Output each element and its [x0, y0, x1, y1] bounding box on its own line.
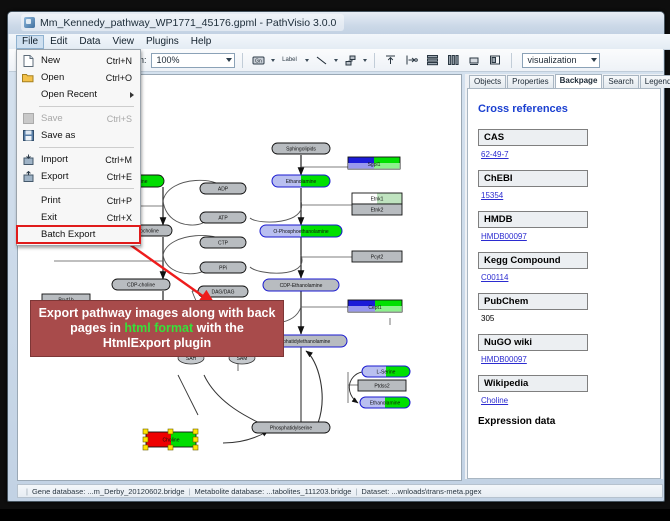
title-bar: Mm_Kennedy_pathway_WP1771_45176.gpml - P…	[8, 12, 664, 34]
status-gene-database: Gene database: ...m_Derby_20120602.bridg…	[32, 487, 185, 496]
line-dropdown-icon[interactable]	[334, 59, 338, 62]
interaction-icon[interactable]	[342, 52, 359, 69]
db-label-pubchem: PubChem	[478, 293, 588, 310]
menu-file[interactable]: File	[16, 35, 44, 49]
zoom-combo[interactable]: 100%	[151, 53, 235, 68]
db-label-kegg-compound: Kegg Compound	[478, 252, 588, 269]
right-panel: Objects Properties Backpage Search Legen…	[465, 74, 663, 479]
svg-text:Pcyt2: Pcyt2	[371, 255, 384, 261]
menu-label-open: Open	[41, 72, 106, 83]
svg-text:Etnk1: Etnk1	[371, 197, 384, 203]
node-phosphatidylserine: Phosphatidylserine	[252, 422, 330, 433]
db-value-hmdb[interactable]: HMDB00097	[481, 232, 650, 241]
menu-view[interactable]: View	[106, 35, 140, 49]
svg-text:Gn: Gn	[255, 58, 262, 64]
menu-item-open-recent[interactable]: Open Recent	[17, 86, 140, 103]
node-ethanolamine-2: Ethanolamine	[360, 397, 410, 408]
gene-box-sgpl1: Sgpl1	[348, 157, 400, 169]
menu-label-open-recent: Open Recent	[41, 89, 140, 100]
node-o-phosphoethanolamine: O-Phosphoethanolamine	[260, 225, 342, 237]
node-ctp: CTP	[200, 237, 246, 248]
db-label-cas: CAS	[478, 129, 588, 146]
cross-references-title: Cross references	[478, 103, 650, 115]
datanode-icon[interactable]: Gn	[250, 52, 267, 69]
label-icon[interactable]: Label	[279, 52, 301, 69]
blank-icon-3	[21, 212, 35, 224]
annotation-line2-b: with the	[193, 321, 244, 335]
node-cdp-choline: CDP-choline	[112, 279, 170, 290]
menu-item-save[interactable]: Save Ctrl+S	[17, 110, 140, 127]
tab-backpage[interactable]: Backpage	[555, 74, 603, 88]
menu-label-save: Save	[41, 113, 107, 124]
status-sep-1: |	[189, 487, 191, 496]
label-dropdown-icon[interactable]	[305, 59, 309, 62]
node-cdp-ethanolamine: CDP-Ethanolamine	[263, 279, 339, 291]
menu-label-exit: Exit	[41, 212, 107, 223]
menu-separator-2	[39, 147, 134, 148]
db-value-cas[interactable]: 62-49-7	[481, 150, 650, 159]
annotation-text: Export pathway images along with back pa…	[33, 306, 282, 351]
db-value-nugo-wiki[interactable]: HMDB00097	[481, 355, 650, 364]
status-bar: | Gene database: ...m_Derby_20120602.bri…	[17, 484, 663, 498]
menu-item-print[interactable]: Print Ctrl+P	[17, 192, 140, 209]
window-title: Mm_Kennedy_pathway_WP1771_45176.gpml - P…	[40, 17, 336, 29]
node-ethanolamine: Ethanolamine	[272, 175, 330, 187]
node-sphingolipids: Sphingolipids	[272, 143, 330, 154]
tab-legend[interactable]: Legend	[640, 75, 670, 88]
menu-separator-1	[39, 106, 134, 107]
interaction-dropdown-icon[interactable]	[363, 59, 367, 62]
menu-label-import: Import	[41, 154, 105, 165]
annotation-line3: HtmlExport plugin	[103, 336, 211, 350]
save-as-icon	[21, 130, 35, 142]
svg-text:ADP: ADP	[218, 187, 229, 193]
order-back-icon[interactable]	[466, 52, 483, 69]
app-icon	[24, 17, 35, 28]
chevron-down-icon	[226, 58, 232, 62]
toolbar-separator-3	[511, 53, 512, 68]
toolbar-separator	[242, 53, 243, 68]
menu-item-export[interactable]: Export Ctrl+E	[17, 168, 140, 185]
node-choline-selected: Choline	[143, 429, 198, 450]
expression-data-title: Expression data	[478, 416, 650, 427]
status-sep-0: |	[26, 487, 28, 496]
svg-text:Ethanolamine: Ethanolamine	[370, 401, 401, 407]
menu-edit[interactable]: Edit	[44, 35, 73, 49]
svg-text:Sphingolipids: Sphingolipids	[286, 147, 316, 153]
gene-box-ptdss2: Ptdss2	[358, 380, 406, 391]
blank-icon	[21, 89, 35, 101]
panel-tabs[interactable]: Objects Properties Backpage Search Legen…	[465, 74, 663, 88]
menu-shortcut-exit: Ctrl+X	[107, 213, 140, 223]
svg-text:CTP: CTP	[218, 241, 229, 247]
svg-text:PPi: PPi	[219, 266, 227, 272]
svg-text:CDP-Ethanolamine: CDP-Ethanolamine	[280, 283, 323, 289]
menu-shortcut-save: Ctrl+S	[107, 114, 140, 124]
svg-text:Ptdss2: Ptdss2	[374, 384, 390, 390]
node-atp: ATP	[200, 212, 246, 223]
menu-item-batch-export[interactable]: Batch Export	[17, 226, 140, 243]
distribute-vertical-icon[interactable]	[424, 52, 441, 69]
db-label-wikipedia: Wikipedia	[478, 375, 588, 392]
menu-help[interactable]: Help	[185, 35, 218, 49]
svg-text:O-Phosphoethanolamine: O-Phosphoethanolamine	[273, 229, 329, 235]
node-ppi: PPi	[200, 262, 246, 273]
svg-text:ATP: ATP	[218, 216, 228, 222]
menu-plugins[interactable]: Plugins	[140, 35, 185, 49]
db-value-pubchem: 305	[481, 314, 650, 323]
svg-text:CDP-choline: CDP-choline	[127, 283, 155, 289]
menu-item-new[interactable]: New Ctrl+N	[17, 52, 140, 69]
tab-objects[interactable]: Objects	[469, 75, 506, 88]
visualization-combo[interactable]: visualization	[522, 53, 600, 68]
menu-item-import[interactable]: Import Ctrl+M	[17, 151, 140, 168]
svg-text:Etnk2: Etnk2	[371, 208, 384, 214]
menu-data[interactable]: Data	[73, 35, 106, 49]
open-folder-icon	[21, 72, 35, 84]
db-label-nugo-wiki: NuGO wiki	[478, 334, 588, 351]
menu-label-new: New	[41, 55, 106, 66]
db-value-chebi[interactable]: 15354	[481, 191, 650, 200]
blank-icon-2	[21, 195, 35, 207]
menu-item-save-as[interactable]: Save as	[17, 127, 140, 144]
db-label-chebi: ChEBI	[478, 170, 588, 187]
backpage-content[interactable]: Cross references CAS 62-49-7 ChEBI 15354…	[467, 88, 661, 479]
menu-shortcut-print: Ctrl+P	[107, 196, 140, 206]
window-title-chip: Mm_Kennedy_pathway_WP1771_45176.gpml - P…	[21, 14, 344, 31]
gene-box-etnk1: Etnk1	[352, 193, 402, 204]
distribute-horizontal-icon[interactable]	[445, 52, 462, 69]
menu-label-batch-export: Batch Export	[41, 229, 140, 240]
tab-search[interactable]: Search	[603, 75, 638, 88]
submenu-arrow-icon	[130, 92, 134, 98]
annotation-line2-a: pages in	[70, 321, 124, 335]
annotation-highlight: html format	[124, 321, 193, 335]
screenshot-root: Mm_Kennedy_pathway_WP1771_45176.gpml - P…	[0, 0, 670, 509]
align-top-icon[interactable]	[382, 52, 399, 69]
svg-text:Ethanolamine: Ethanolamine	[286, 179, 317, 185]
gene-box-pcyt2: Pcyt2	[352, 251, 402, 262]
annotation-line1: Export pathway images along with back	[39, 306, 276, 320]
menu-shortcut-new: Ctrl+N	[106, 56, 140, 66]
db-label-hmdb: HMDB	[478, 211, 588, 228]
datanode-dropdown-icon[interactable]	[271, 59, 275, 62]
status-sep-2: |	[355, 487, 357, 496]
node-adp: ADP	[200, 183, 246, 194]
menu-item-open[interactable]: Open Ctrl+O	[17, 69, 140, 86]
menu-shortcut-export: Ctrl+E	[107, 172, 140, 182]
node-dag-dag: DAG/DAG	[198, 286, 248, 297]
gene-box-etnk2: Etnk2	[352, 204, 402, 215]
export-icon	[21, 171, 35, 183]
status-dataset: Dataset: ...wnloads\trans-meta.pgex	[361, 487, 481, 496]
application-window: Mm_Kennedy_pathway_WP1771_45176.gpml - P…	[7, 11, 665, 502]
menu-item-exit[interactable]: Exit Ctrl+X	[17, 209, 140, 226]
file-menu-dropdown[interactable]: New Ctrl+N Open Ctrl+O Open Recent	[16, 49, 141, 246]
visualization-value: visualization	[528, 55, 577, 65]
menu-shortcut-import: Ctrl+M	[105, 155, 140, 165]
order-front-icon[interactable]	[487, 52, 504, 69]
svg-text:DAG/DAG: DAG/DAG	[211, 290, 234, 296]
zoom-value: 100%	[157, 55, 180, 65]
align-left-icon[interactable]	[403, 52, 420, 69]
annotation-callout: Export pathway images along with back pa…	[30, 300, 284, 357]
status-metabolite-database: Metabolite database: ...tabolites_111203…	[195, 487, 352, 496]
new-document-icon	[21, 55, 35, 67]
db-value-wikipedia[interactable]: Choline	[481, 396, 650, 405]
svg-text:Choline: Choline	[163, 438, 180, 444]
save-icon	[21, 113, 35, 125]
tab-properties[interactable]: Properties	[507, 75, 553, 88]
line-icon[interactable]	[313, 52, 330, 69]
menu-bar[interactable]: File Edit Data View Plugins Help	[9, 34, 670, 50]
menu-separator-3	[39, 188, 134, 189]
node-l-serine: L-Serine	[362, 366, 410, 377]
menu-label-print: Print	[41, 195, 107, 206]
svg-text:Cept1: Cept1	[368, 305, 382, 311]
menu-shortcut-open: Ctrl+O	[106, 73, 140, 83]
menu-label-save-as: Save as	[41, 130, 132, 141]
blank-icon-4	[21, 229, 35, 241]
svg-text:Phosphatidylserine: Phosphatidylserine	[270, 426, 312, 432]
import-icon	[21, 154, 35, 166]
gene-box-cept1: Cept1	[348, 300, 402, 312]
toolbar-separator-2	[374, 53, 375, 68]
chevron-down-icon-2	[591, 58, 597, 62]
svg-text:Sgpl1: Sgpl1	[368, 162, 381, 168]
db-value-kegg-compound[interactable]: C00114	[481, 273, 650, 282]
menu-label-export: Export	[41, 171, 107, 182]
svg-text:L-Serine: L-Serine	[377, 370, 396, 376]
